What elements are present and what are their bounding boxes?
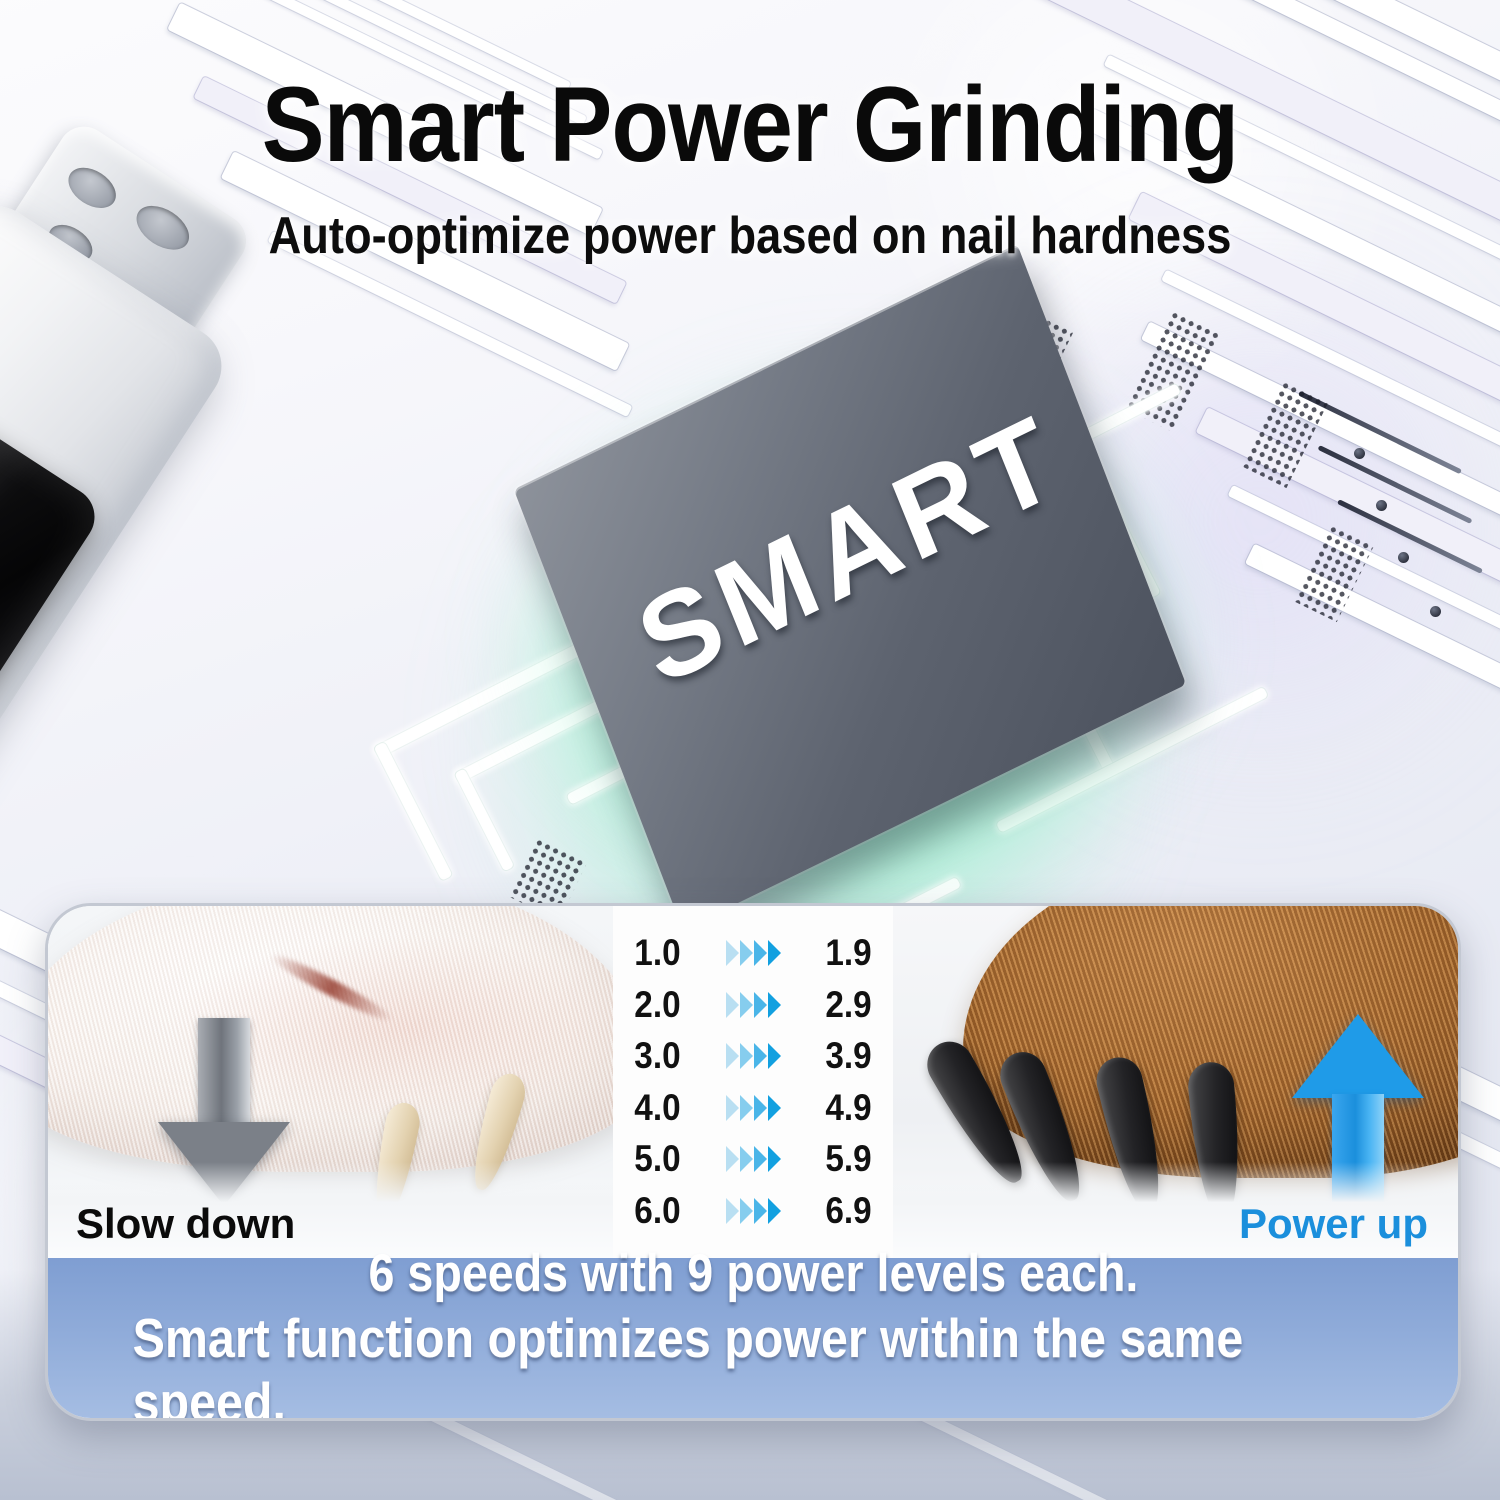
page-title: Smart Power Grinding xyxy=(90,62,1410,186)
chevron-group-icon xyxy=(726,1095,781,1121)
speed-to: 5.9 xyxy=(812,1138,871,1180)
chevron-group-icon xyxy=(726,992,781,1018)
speed-table: 1.0 1.9 2.0 2.9 3.0 xyxy=(613,932,893,1232)
power-up-label: Power up xyxy=(1239,1200,1428,1248)
component-dot xyxy=(1376,500,1387,511)
component-dot xyxy=(1430,606,1441,617)
fur-texture xyxy=(48,906,613,1172)
chevron-group-icon xyxy=(726,1146,781,1172)
power-up-pane: Power up xyxy=(893,906,1458,1258)
speed-from: 1.0 xyxy=(634,932,693,974)
speed-to: 3.9 xyxy=(812,1035,871,1077)
caption-band: 6 speeds with 9 power levels each. Smart… xyxy=(48,1258,1458,1418)
display-glare xyxy=(0,373,53,819)
speed-from: 5.0 xyxy=(634,1138,693,1180)
table-row: 3.0 3.9 xyxy=(631,1035,875,1077)
table-row: 6.0 6.9 xyxy=(631,1190,875,1232)
speed-to: 1.9 xyxy=(812,932,871,974)
chevron-group-icon xyxy=(726,1198,781,1224)
speed-comparison-card: Slow down 1.0 1.9 2.0 xyxy=(45,903,1461,1421)
table-row: 2.0 2.9 xyxy=(631,984,875,1026)
caption-line-1: 6 speeds with 9 power levels each. xyxy=(368,1243,1138,1304)
speed-table-pane: 1.0 1.9 2.0 2.9 3.0 xyxy=(613,906,893,1258)
speed-from: 6.0 xyxy=(634,1190,693,1232)
speed-from: 2.0 xyxy=(634,984,693,1026)
component-dot xyxy=(1398,552,1409,563)
speed-to: 4.9 xyxy=(812,1087,871,1129)
speed-to: 2.9 xyxy=(812,984,871,1026)
chevron-group-icon xyxy=(726,1043,781,1069)
caption-line-2: Smart function optimizes power within th… xyxy=(133,1306,1374,1422)
chevron-group-icon xyxy=(726,940,781,966)
table-row: 4.0 4.9 xyxy=(631,1087,875,1129)
speed-from: 3.0 xyxy=(634,1035,693,1077)
table-row: 5.0 5.9 xyxy=(631,1138,875,1180)
speed-from: 4.0 xyxy=(634,1087,693,1129)
card-top-row: Slow down 1.0 1.9 2.0 xyxy=(48,906,1458,1258)
speed-to: 6.9 xyxy=(812,1190,871,1232)
component-dot xyxy=(1354,448,1365,459)
device-display: 6.9 SMART 100% xyxy=(0,373,106,869)
slow-down-label: Slow down xyxy=(76,1200,295,1248)
table-row: 1.0 1.9 xyxy=(631,932,875,974)
slow-down-pane: Slow down xyxy=(48,906,613,1258)
white-dog-paw-image xyxy=(48,906,613,1172)
page-subtitle: Auto-optimize power based on nail hardne… xyxy=(98,206,1403,266)
product-feature-poster: SMART xyxy=(0,0,1500,1500)
